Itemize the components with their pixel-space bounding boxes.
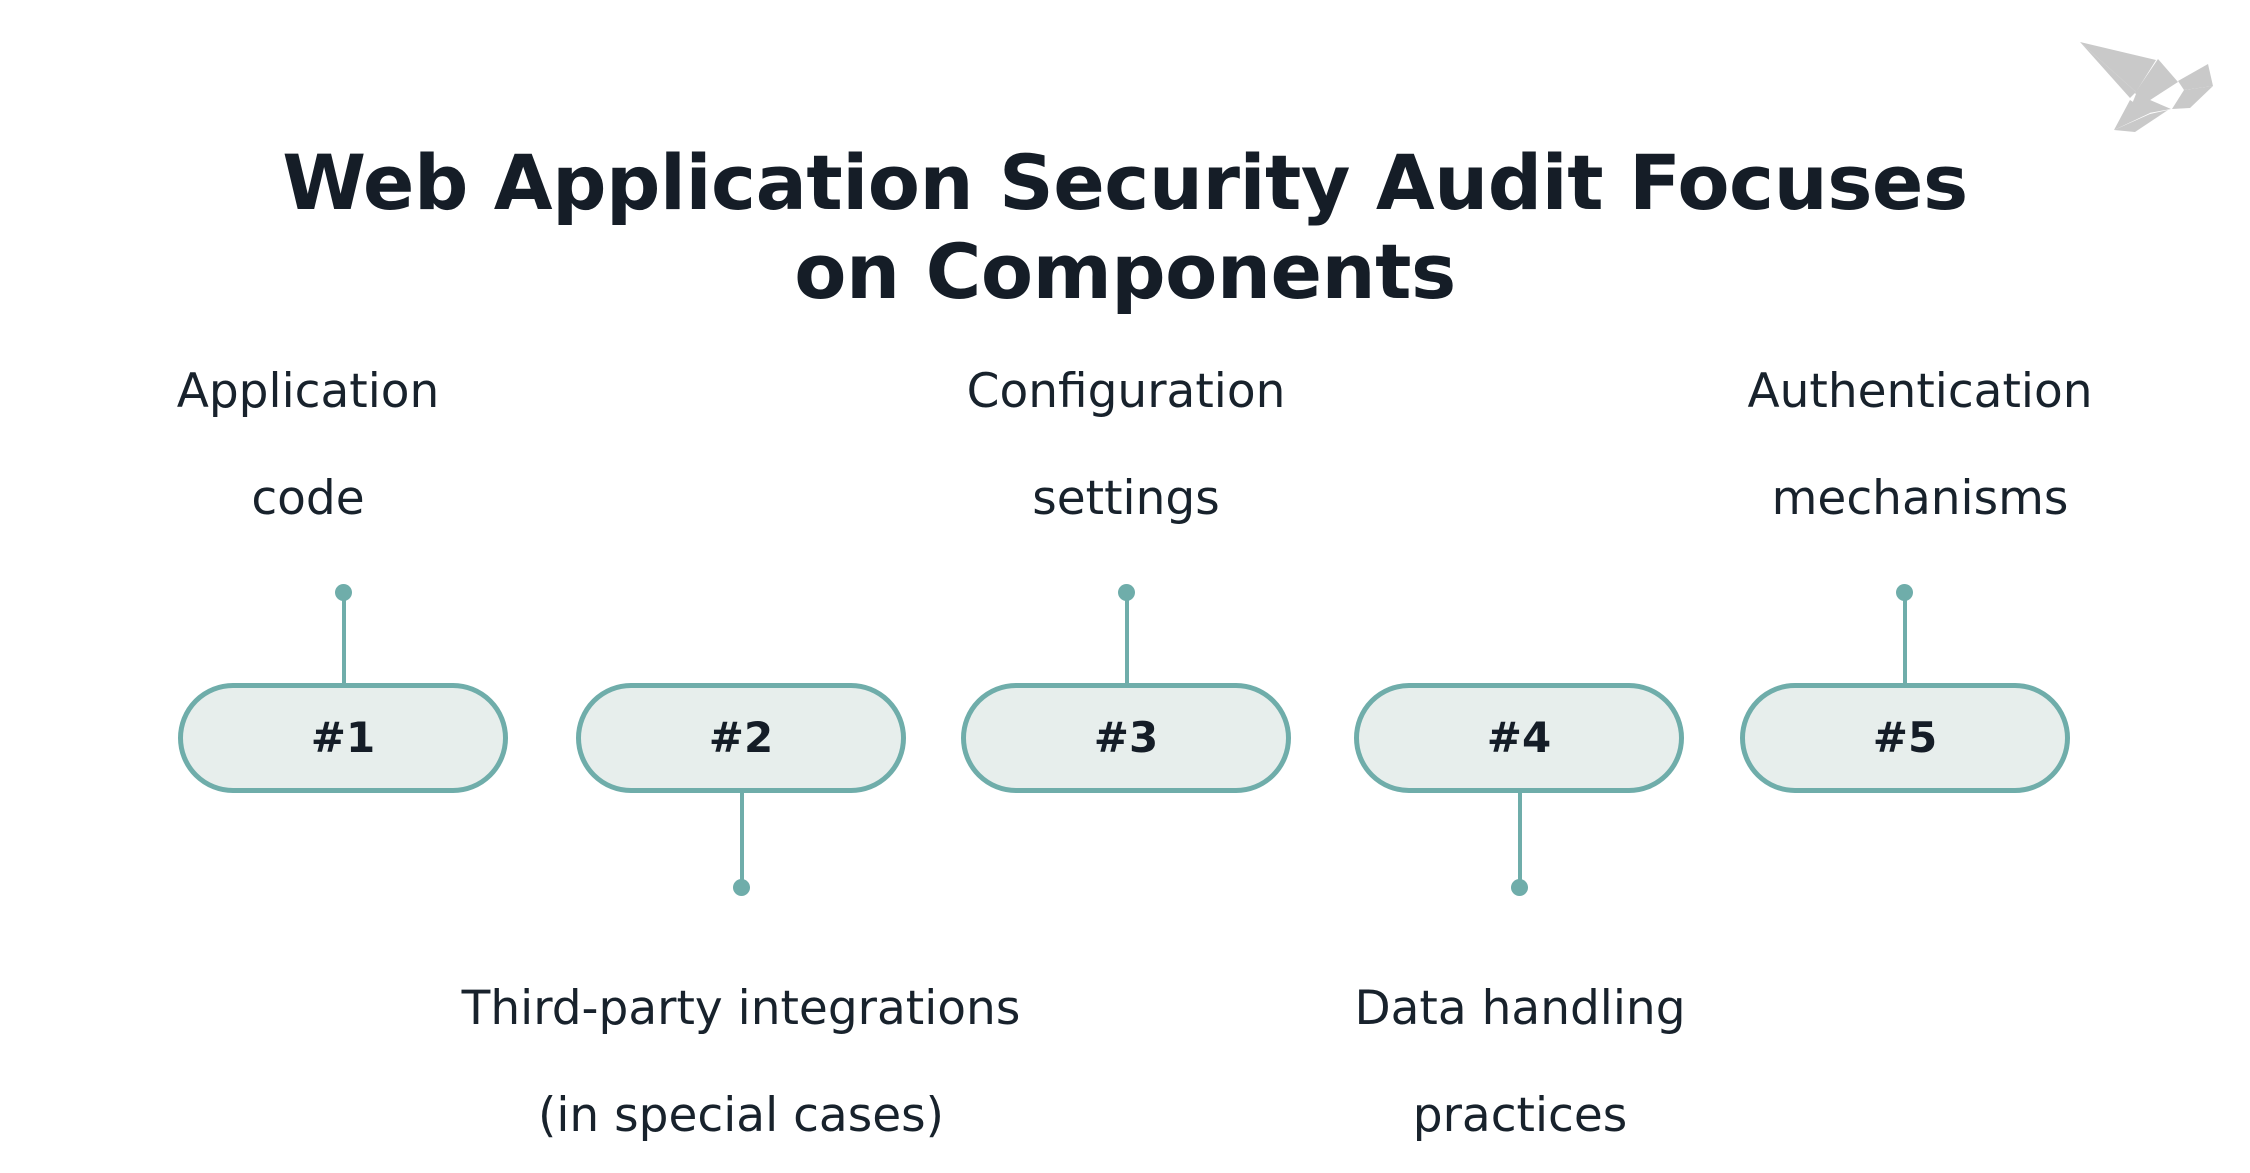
connector-line-5 bbox=[1903, 593, 1907, 688]
node-pill-1-label: #1 bbox=[311, 717, 375, 759]
node-caption-1-line-1: Application bbox=[48, 365, 568, 419]
connector-dot-2 bbox=[733, 879, 750, 896]
connector-line-4 bbox=[1518, 790, 1522, 885]
node-pill-3[interactable]: #3 bbox=[961, 683, 1291, 793]
node-caption-2-line-2: (in special cases) bbox=[391, 1089, 1091, 1143]
node-caption-1: Application code bbox=[48, 311, 568, 579]
node-caption-4-line-2: practices bbox=[1260, 1089, 1780, 1143]
connector-dot-5 bbox=[1896, 584, 1913, 601]
connector-line-1 bbox=[342, 593, 346, 688]
slide-canvas: Web Application Security Audit Focuses o… bbox=[0, 0, 2250, 1173]
node-caption-1-line-2: code bbox=[48, 472, 568, 526]
node-caption-4-line-1: Data handling bbox=[1260, 982, 1780, 1036]
node-pill-4-label: #4 bbox=[1487, 717, 1551, 759]
node-caption-5-line-2: mechanisms bbox=[1640, 472, 2200, 526]
node-pill-2-label: #2 bbox=[709, 717, 773, 759]
node-caption-3: Configuration settings bbox=[866, 311, 1386, 579]
connector-line-2 bbox=[740, 790, 744, 885]
node-pill-5-label: #5 bbox=[1873, 717, 1937, 759]
connector-dot-4 bbox=[1511, 879, 1528, 896]
node-caption-3-line-2: settings bbox=[866, 472, 1386, 526]
node-pill-5[interactable]: #5 bbox=[1740, 683, 2070, 793]
connector-dot-3 bbox=[1118, 584, 1135, 601]
node-pill-4[interactable]: #4 bbox=[1354, 683, 1684, 793]
connector-line-3 bbox=[1125, 593, 1129, 688]
node-caption-4: Data handling practices bbox=[1260, 928, 1780, 1173]
connector-dot-1 bbox=[335, 584, 352, 601]
node-caption-5-line-1: Authentication bbox=[1640, 365, 2200, 419]
node-pill-1[interactable]: #1 bbox=[178, 683, 508, 793]
component-list-diagram: Application code #1 #2 Third-party integ… bbox=[0, 0, 2250, 1173]
node-caption-5: Authentication mechanisms bbox=[1640, 311, 2200, 579]
node-pill-3-label: #3 bbox=[1094, 717, 1158, 759]
node-caption-2: Third-party integrations (in special cas… bbox=[391, 928, 1091, 1173]
node-pill-2[interactable]: #2 bbox=[576, 683, 906, 793]
node-caption-3-line-1: Configuration bbox=[866, 365, 1386, 419]
node-caption-2-line-1: Third-party integrations bbox=[391, 982, 1091, 1036]
